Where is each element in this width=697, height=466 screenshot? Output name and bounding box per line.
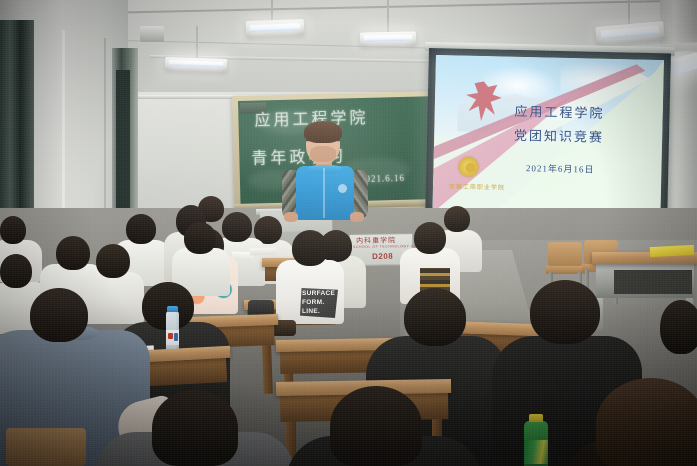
presenter-vest-collar xyxy=(308,165,342,173)
fluorescent-tube xyxy=(364,35,412,42)
student-head xyxy=(404,288,466,346)
desk-leg xyxy=(262,342,273,394)
shirt-text: SURFACEFORM.LINE. xyxy=(302,289,338,316)
empty-chair-backrest xyxy=(548,242,582,266)
student-head xyxy=(596,378,697,466)
presenter-vest-zipper xyxy=(323,168,325,218)
slide-date: 2021年6月16日 xyxy=(526,161,595,176)
blackboard-corner-card xyxy=(240,102,266,114)
wall-sign-room-number: D208 xyxy=(372,252,393,261)
bottle-label-red-mark xyxy=(168,333,173,339)
student-head xyxy=(96,244,130,278)
student-head xyxy=(152,390,238,466)
sprite-bottle-cap xyxy=(529,414,543,422)
lamp-suspension-rod xyxy=(628,0,630,26)
bottle-label-blue-mark xyxy=(174,333,178,341)
classroom-photo-scene: 应用工程学院 青年政学习 2021.6.16 安徽工商职业学院 应用工程学院 党… xyxy=(0,0,697,466)
student-head xyxy=(292,230,328,266)
student-head xyxy=(126,214,156,244)
student-head xyxy=(222,212,252,242)
student-head xyxy=(30,288,88,342)
student-head xyxy=(0,254,32,288)
presenter-right-hand xyxy=(350,212,364,222)
presenter-blue-vest xyxy=(296,166,354,220)
lamp-suspension-rod xyxy=(196,26,198,60)
slide-title-line-2: 党团知识竞赛 xyxy=(514,125,604,146)
ceiling-speaker-box xyxy=(140,26,164,42)
student-head xyxy=(0,216,26,244)
sprite-bottle-label xyxy=(524,440,548,464)
lamp-suspension-rod xyxy=(271,0,273,22)
student-head xyxy=(414,222,446,254)
student-head xyxy=(530,280,600,344)
presenter-hair xyxy=(304,121,342,143)
student-head xyxy=(330,386,422,466)
student-head xyxy=(56,236,90,270)
student-head xyxy=(660,300,697,354)
desk-storage-shelf xyxy=(614,270,692,294)
presenter-vest-badge xyxy=(338,184,347,193)
student-head xyxy=(444,206,470,232)
slide-organization-name: 安徽工商职业学院 xyxy=(449,182,505,192)
student-head xyxy=(184,222,216,254)
lamp-suspension-rod xyxy=(387,0,389,34)
student-torso xyxy=(80,272,144,324)
projection-screen-slide: 安徽工商职业学院 应用工程学院 党团知识竞赛 2021年6月16日 xyxy=(432,55,664,218)
presenter-face xyxy=(310,146,336,162)
presenter-left-hand xyxy=(284,212,298,222)
water-bottle-cap xyxy=(167,306,178,312)
chair-backrest xyxy=(6,428,86,466)
paper-sheet xyxy=(250,248,276,256)
slide-title-line-1: 应用工程学院 xyxy=(514,101,604,122)
